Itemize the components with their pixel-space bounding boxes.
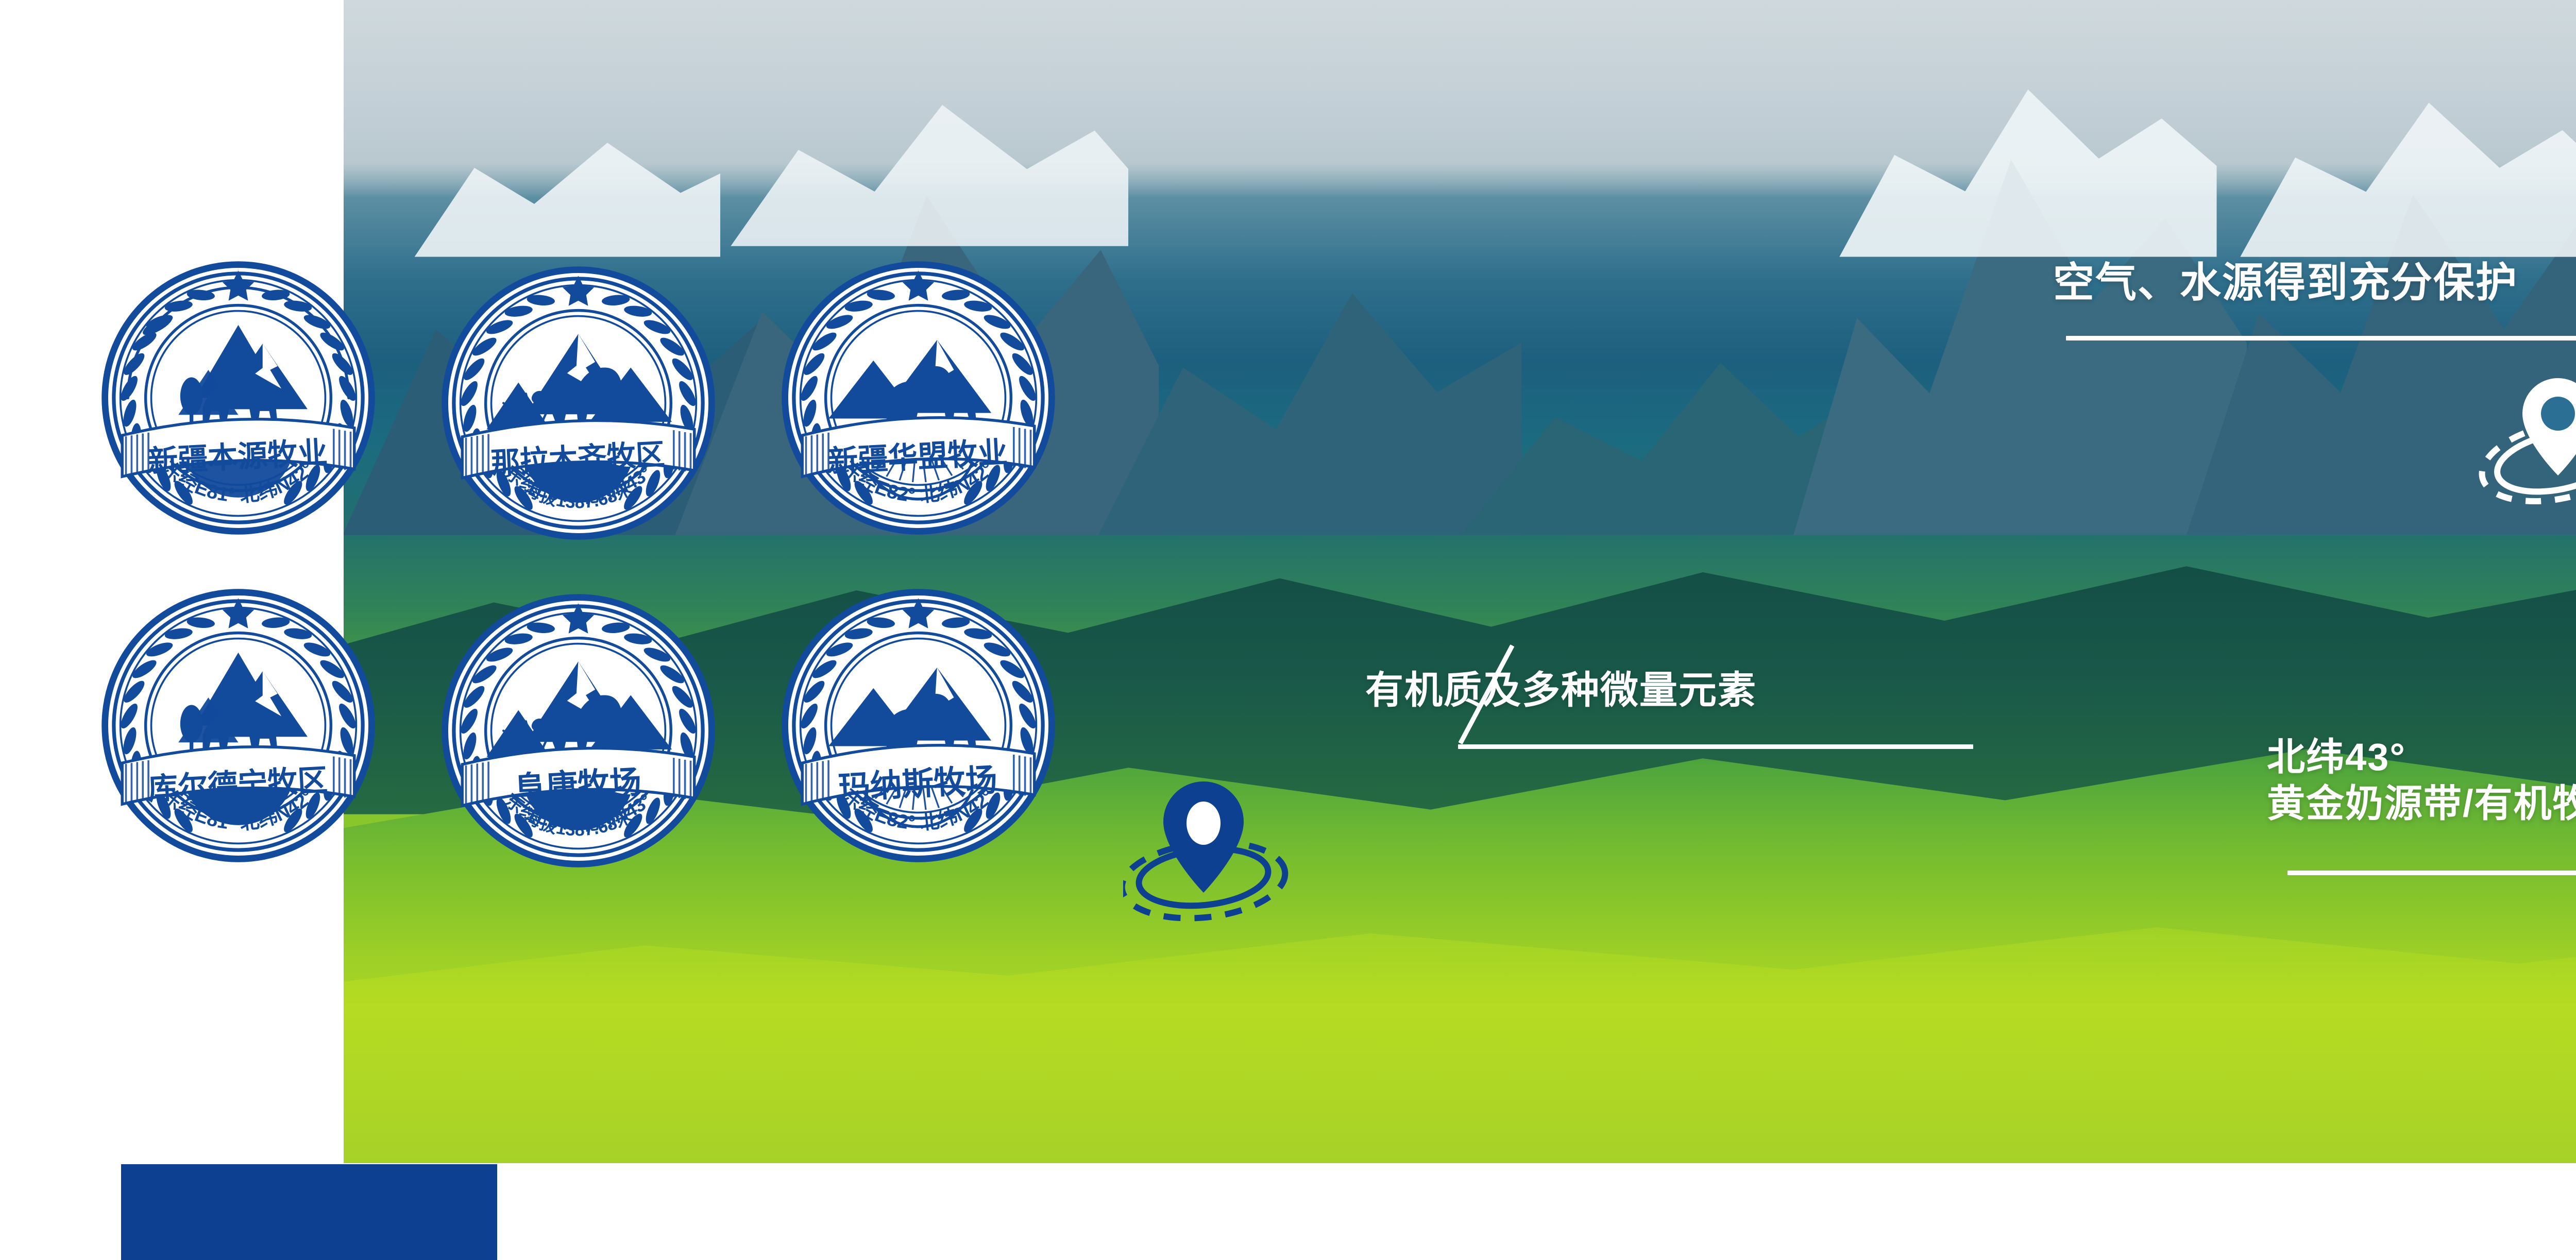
callout-air-water-text: 空气、水源得到充分保护 bbox=[2053, 258, 2518, 308]
callout-organic-matter: 有机质及多种微量元素 bbox=[1365, 667, 1757, 713]
pasture-badge[interactable]: 玛纳斯牧场 东经E82° 北纬N42° bbox=[778, 585, 1059, 866]
location-pin-white[interactable] bbox=[2473, 350, 2576, 520]
callout-golden-belt-text: 黄金奶源带/有机牧场 bbox=[2267, 780, 2576, 827]
pasture-badge[interactable]: 那拉木齐牧区 海拔1387.68米 东经E84° 北纬N43° bbox=[438, 263, 719, 543]
badge-name: 阜康牧场 bbox=[513, 764, 642, 807]
pasture-badge[interactable]: 新疆华盟牧业 东经E82° 北纬N42° bbox=[778, 258, 1059, 538]
callout-air-water-leader-line bbox=[2066, 336, 2576, 340]
poster-canvas: 新疆本源牧业 东经E81° 北纬N42° bbox=[0, 0, 2576, 1260]
pasture-badge-grid: 新疆本源牧业 东经E81° 北纬N42° bbox=[98, 258, 1077, 876]
callout-golden-milk-belt-leader-line bbox=[2287, 871, 2576, 875]
callout-organic-matter-text: 有机质及多种微量元素 bbox=[1365, 667, 1757, 713]
callout-latitude-text: 北纬43° bbox=[2267, 734, 2576, 780]
pasture-badge[interactable]: 新疆本源牧业 东经E81° 北纬N42° bbox=[98, 258, 379, 538]
callout-golden-milk-belt: 北纬43° 黄金奶源带/有机牧场 bbox=[2267, 734, 2576, 827]
callout-air-water: 空气、水源得到充分保护 bbox=[2053, 258, 2518, 308]
pasture-badge[interactable]: 库尔德宁牧区 东经E81° 北纬N42° bbox=[98, 585, 379, 866]
pasture-badge[interactable]: 阜康牧场 海拔1387.68米 东经E84° 北纬N43° bbox=[438, 590, 719, 871]
bottom-blue-accent-block bbox=[121, 1164, 497, 1260]
location-pin-blue-mid[interactable] bbox=[1123, 760, 1309, 930]
callout-organic-matter-leader-line bbox=[1458, 744, 1973, 749]
